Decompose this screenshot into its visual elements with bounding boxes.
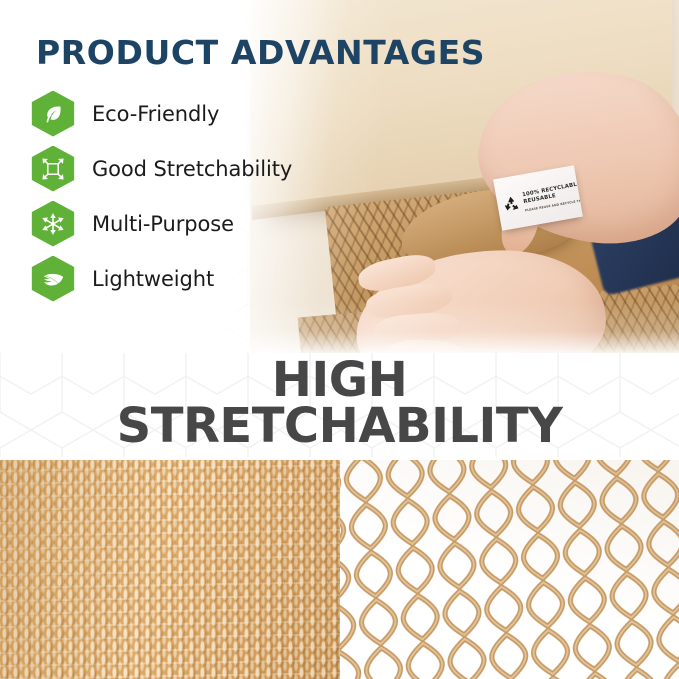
multi-direction-arrows-icon [30, 201, 76, 247]
feature-item-multi-purpose: Multi-Purpose [30, 196, 292, 251]
stretched-honeycomb-mesh-panel [340, 457, 679, 679]
page-title: PRODUCT ADVANTAGES [36, 33, 485, 72]
feature-item-lightweight: Lightweight [30, 251, 292, 306]
product-advantages-infographic: 100% RECYCLABLE REUSABLE PLEASE REUSE AN… [0, 0, 679, 679]
feature-item-good-stretchability: Good Stretchability [30, 141, 292, 196]
feature-label: Eco-Friendly [92, 102, 219, 126]
feather-icon [30, 256, 76, 302]
feature-label: Lightweight [92, 267, 214, 291]
unstretched-kraft-honeycomb-panel [0, 457, 340, 679]
recycle-icon [501, 193, 522, 214]
section-title: HIGH STRETCHABILITY [0, 358, 679, 449]
leaf-icon [30, 91, 76, 137]
feature-label: Multi-Purpose [92, 212, 234, 236]
material-comparison-panels [0, 457, 679, 679]
feature-list: Eco-Friendly Good St [30, 86, 292, 306]
panel-divider [0, 457, 679, 460]
section-title-line-1: HIGH [0, 358, 679, 404]
stretch-arrows-icon [30, 146, 76, 192]
section-title-line-2: STRETCHABILITY [0, 404, 679, 450]
feature-label: Good Stretchability [92, 157, 292, 181]
feature-item-eco-friendly: Eco-Friendly [30, 86, 292, 141]
